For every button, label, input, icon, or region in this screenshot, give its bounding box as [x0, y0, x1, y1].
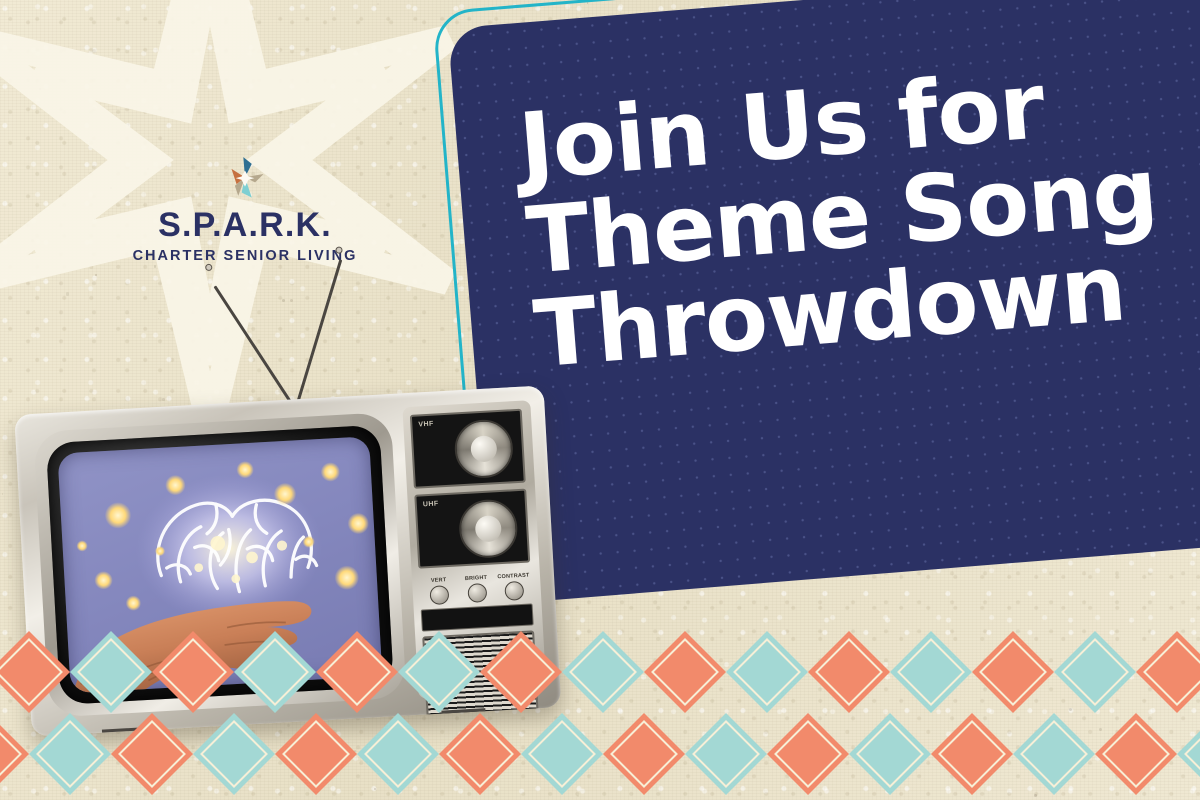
diamond-inner-outline: [979, 638, 1047, 706]
diamond-icon: [480, 631, 562, 713]
diamond-icon: [152, 631, 234, 713]
knob-bright: BRIGHT: [459, 575, 493, 604]
diamond-icon: [29, 713, 111, 795]
diamond-inner-outline: [118, 720, 186, 788]
knob-row: VERT BRIGHT CONTRAST: [419, 568, 535, 607]
sparkle-icon: [76, 540, 88, 552]
uhf-label: UHF: [423, 500, 439, 508]
diamond-icon: [644, 631, 726, 713]
five-point-star-icon: [218, 152, 272, 206]
diamond-inner-outline: [159, 638, 227, 706]
card-navy-panel: Join Us for Theme Song Throwdown: [448, 0, 1200, 605]
diamond-icon: [931, 713, 1013, 795]
diamond-icon: [316, 631, 398, 713]
knob-vert-label: VERT: [422, 577, 455, 585]
diamond-inner-outline: [733, 638, 801, 706]
diamond-icon: [1177, 713, 1200, 795]
knob-vert: VERT: [422, 577, 456, 606]
diamond-icon: [0, 713, 29, 795]
knob-contrast-dial[interactable]: [504, 581, 524, 601]
diamond-icon: [1136, 631, 1200, 713]
vhf-label: VHF: [418, 421, 434, 429]
uhf-dial-box: UHF: [414, 489, 530, 569]
diamond-icon: [70, 631, 152, 713]
diamond-icon: [603, 713, 685, 795]
diamond-icon: [1054, 631, 1136, 713]
diamond-inner-outline: [815, 638, 883, 706]
vhf-dial-box: VHF: [410, 409, 526, 489]
diamond-inner-outline: [897, 638, 965, 706]
diamond-icon: [972, 631, 1054, 713]
knob-contrast-label: CONTRAST: [497, 572, 530, 580]
diamond-icon: [562, 631, 644, 713]
diamond-inner-outline: [323, 638, 391, 706]
diamond-inner-outline: [36, 720, 104, 788]
diamond-pattern-band: [0, 625, 1200, 800]
knob-bright-dial[interactable]: [467, 583, 487, 603]
diamond-icon: [1013, 713, 1095, 795]
diamond-inner-outline: [1102, 720, 1170, 788]
diamond-icon: [439, 713, 521, 795]
diamond-inner-outline: [1061, 638, 1129, 706]
diamond-inner-outline: [446, 720, 514, 788]
diamond-inner-outline: [528, 720, 596, 788]
knob-vert-dial[interactable]: [429, 585, 449, 605]
diamond-icon: [521, 713, 603, 795]
poster-canvas: S.P.A.R.K. CHARTER SENIOR LIVING Join Us…: [0, 0, 1200, 800]
diamond-inner-outline: [241, 638, 309, 706]
diamond-icon: [767, 713, 849, 795]
diamond-icon: [111, 713, 193, 795]
diamond-icon: [849, 713, 931, 795]
diamond-inner-outline: [938, 720, 1006, 788]
diamond-inner-outline: [1184, 720, 1200, 788]
logo-tagline: CHARTER SENIOR LIVING: [120, 248, 370, 264]
diamond-inner-outline: [200, 720, 268, 788]
diamond-icon: [357, 713, 439, 795]
page-title: Join Us for Theme Song Throwdown: [516, 45, 1200, 382]
diamond-icon: [1095, 713, 1177, 795]
diamond-inner-outline: [1020, 720, 1088, 788]
diamond-inner-outline: [364, 720, 432, 788]
sparkle-icon: [334, 565, 359, 590]
diamond-inner-outline: [487, 638, 555, 706]
diamond-inner-outline: [77, 638, 145, 706]
diamond-icon: [808, 631, 890, 713]
knob-contrast: CONTRAST: [497, 572, 531, 601]
diamond-inner-outline: [774, 720, 842, 788]
diamond-icon: [890, 631, 972, 713]
diamond-inner-outline: [856, 720, 924, 788]
diamond-inner-outline: [569, 638, 637, 706]
uhf-dial[interactable]: [458, 498, 519, 559]
diamond-icon: [398, 631, 480, 713]
diamond-inner-outline: [0, 638, 63, 706]
diamond-inner-outline: [282, 720, 350, 788]
diamond-inner-outline: [405, 638, 473, 706]
diamond-icon: [726, 631, 808, 713]
diamond-icon: [193, 713, 275, 795]
diamond-icon: [275, 713, 357, 795]
diamond-icon: [685, 713, 767, 795]
diamond-inner-outline: [651, 638, 719, 706]
diamond-inner-outline: [610, 720, 678, 788]
vhf-dial[interactable]: [453, 418, 514, 479]
knob-bright-label: BRIGHT: [459, 575, 492, 583]
spark-logo: S.P.A.R.K. CHARTER SENIOR LIVING: [120, 152, 370, 264]
diamond-inner-outline: [1143, 638, 1200, 706]
diamond-inner-outline: [692, 720, 760, 788]
diamond-icon: [0, 631, 70, 713]
diamond-icon: [234, 631, 316, 713]
diamond-inner-outline: [0, 720, 22, 788]
headline-card: Join Us for Theme Song Throwdown: [448, 0, 1200, 607]
logo-wordmark: S.P.A.R.K.: [120, 208, 370, 242]
sparkle-icon: [347, 512, 369, 534]
